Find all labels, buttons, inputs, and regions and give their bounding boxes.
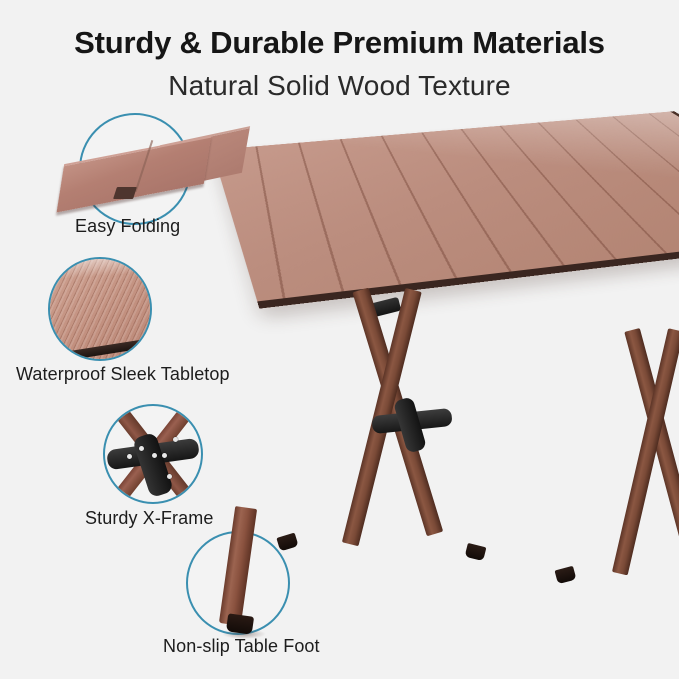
x-frame-circle (103, 404, 203, 504)
header: Sturdy & Durable Premium Materials Natur… (0, 0, 679, 100)
rear-left-leg (624, 328, 679, 574)
rivet-icon (167, 474, 172, 479)
waterproof-clip (50, 259, 150, 359)
waterproof-circle (48, 257, 152, 361)
front-right-leg (342, 288, 422, 546)
top-hinge-bracket (371, 297, 402, 317)
front-left-leg (352, 288, 443, 537)
non-slip-foot-circle (186, 531, 290, 635)
page-subtitle: Natural Solid Wood Texture (0, 58, 679, 100)
x-frame-bracket-strap (393, 396, 427, 453)
rivet-icon (139, 446, 144, 451)
front-left-foot (276, 533, 298, 552)
callout-label-x-frame: Sturdy X-Frame (85, 508, 213, 529)
page-title: Sturdy & Durable Premium Materials (0, 0, 679, 58)
rivet-icon (173, 437, 178, 442)
rubber-foot-cap-icon (226, 613, 254, 634)
callout-label-waterproof: Waterproof Sleek Tabletop (16, 364, 230, 385)
tabletop-slats (212, 111, 679, 308)
callout-label-non-slip-foot: Non-slip Table Foot (163, 636, 320, 657)
infographic-canvas: Sturdy & Durable Premium Materials Natur… (0, 0, 679, 679)
rivet-icon (162, 453, 167, 458)
rivet-icon (152, 453, 157, 458)
x-frame-clip (105, 406, 201, 502)
x-frame-bracket (371, 408, 452, 434)
callout-label-easy-folding: Easy Folding (75, 216, 180, 237)
folding-tab-icon (113, 187, 137, 199)
front-right-foot (465, 543, 487, 561)
easy-folding-circle (79, 113, 191, 225)
tabletop-gloss (212, 111, 679, 308)
table-leg-rubber-cap-icon (219, 506, 257, 626)
tabletop-edge (212, 111, 679, 308)
rivet-icon (127, 454, 132, 459)
rear-left-foot (555, 566, 577, 584)
rear-right-leg (612, 328, 679, 575)
